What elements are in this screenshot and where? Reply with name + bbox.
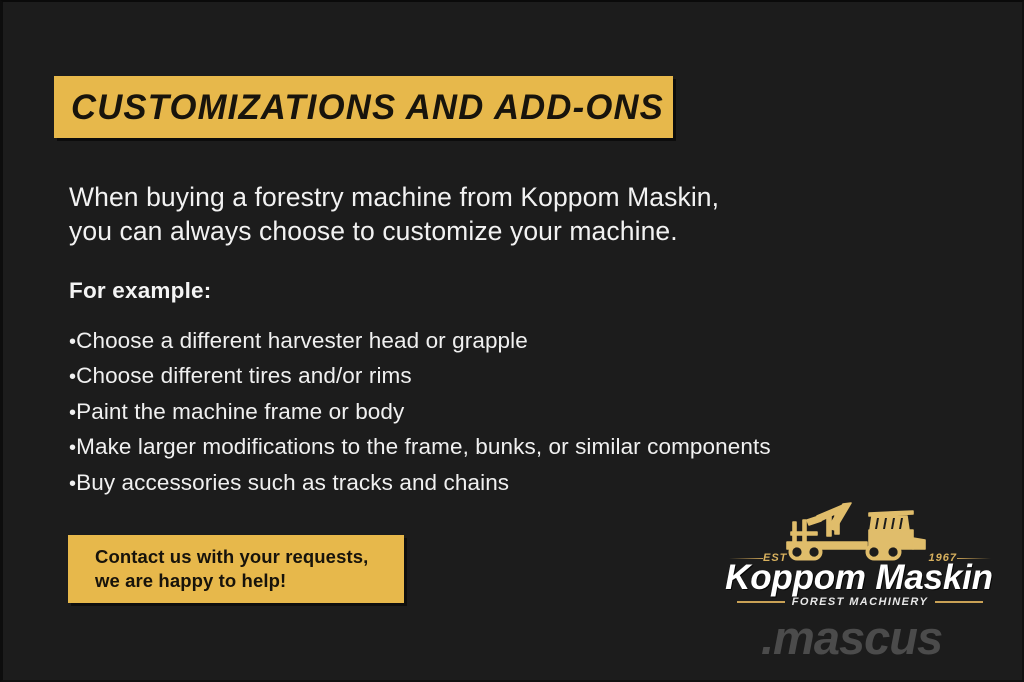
logo-tagline-row: FOREST MACHINERY <box>737 596 983 608</box>
promo-slide: CUSTOMIZATIONS AND ADD-ONS When buying a… <box>0 0 1024 682</box>
list-item-label: Buy accessories such as tracks and chain… <box>76 470 509 495</box>
logo-wordmark: Koppom Maskin <box>725 560 993 596</box>
list-item-label: Make larger modifications to the frame, … <box>76 434 771 459</box>
list-item: •Make larger modifications to the frame,… <box>69 430 869 465</box>
for-example-label: For example: <box>69 278 211 304</box>
intro-line-2: you can always choose to customize your … <box>69 214 799 248</box>
page-title: CUSTOMIZATIONS AND ADD-ONS <box>71 90 664 125</box>
list-item-label: Choose a different harvester head or gra… <box>76 328 528 353</box>
list-item: •Choose different tires and/or rims <box>69 359 869 394</box>
intro-line-1: When buying a forestry machine from Kopp… <box>69 180 799 214</box>
logo-tagline-rule-left <box>737 601 785 603</box>
list-item: •Paint the machine frame or body <box>69 395 869 430</box>
contact-cta-box[interactable]: Contact us with your requests, we are ha… <box>68 535 404 603</box>
list-item-label: Paint the machine frame or body <box>76 399 404 424</box>
list-item: •Buy accessories such as tracks and chai… <box>69 466 869 501</box>
title-banner: CUSTOMIZATIONS AND ADD-ONS <box>54 76 673 138</box>
koppom-maskin-logo: EST 1967 Koppom Maskin FOREST MACHINERY <box>725 500 993 612</box>
contact-cta-line-2: we are happy to help! <box>95 569 404 593</box>
logo-tagline: FOREST MACHINERY <box>792 596 928 608</box>
contact-cta-line-1: Contact us with your requests, <box>95 545 404 569</box>
intro-paragraph: When buying a forestry machine from Kopp… <box>69 180 799 248</box>
list-item: •Choose a different harvester head or gr… <box>69 324 869 359</box>
customization-options-list: •Choose a different harvester head or gr… <box>69 324 869 501</box>
mascus-watermark: .mascus <box>761 614 942 661</box>
list-item-label: Choose different tires and/or rims <box>76 363 412 388</box>
logo-tagline-rule-right <box>935 601 983 603</box>
